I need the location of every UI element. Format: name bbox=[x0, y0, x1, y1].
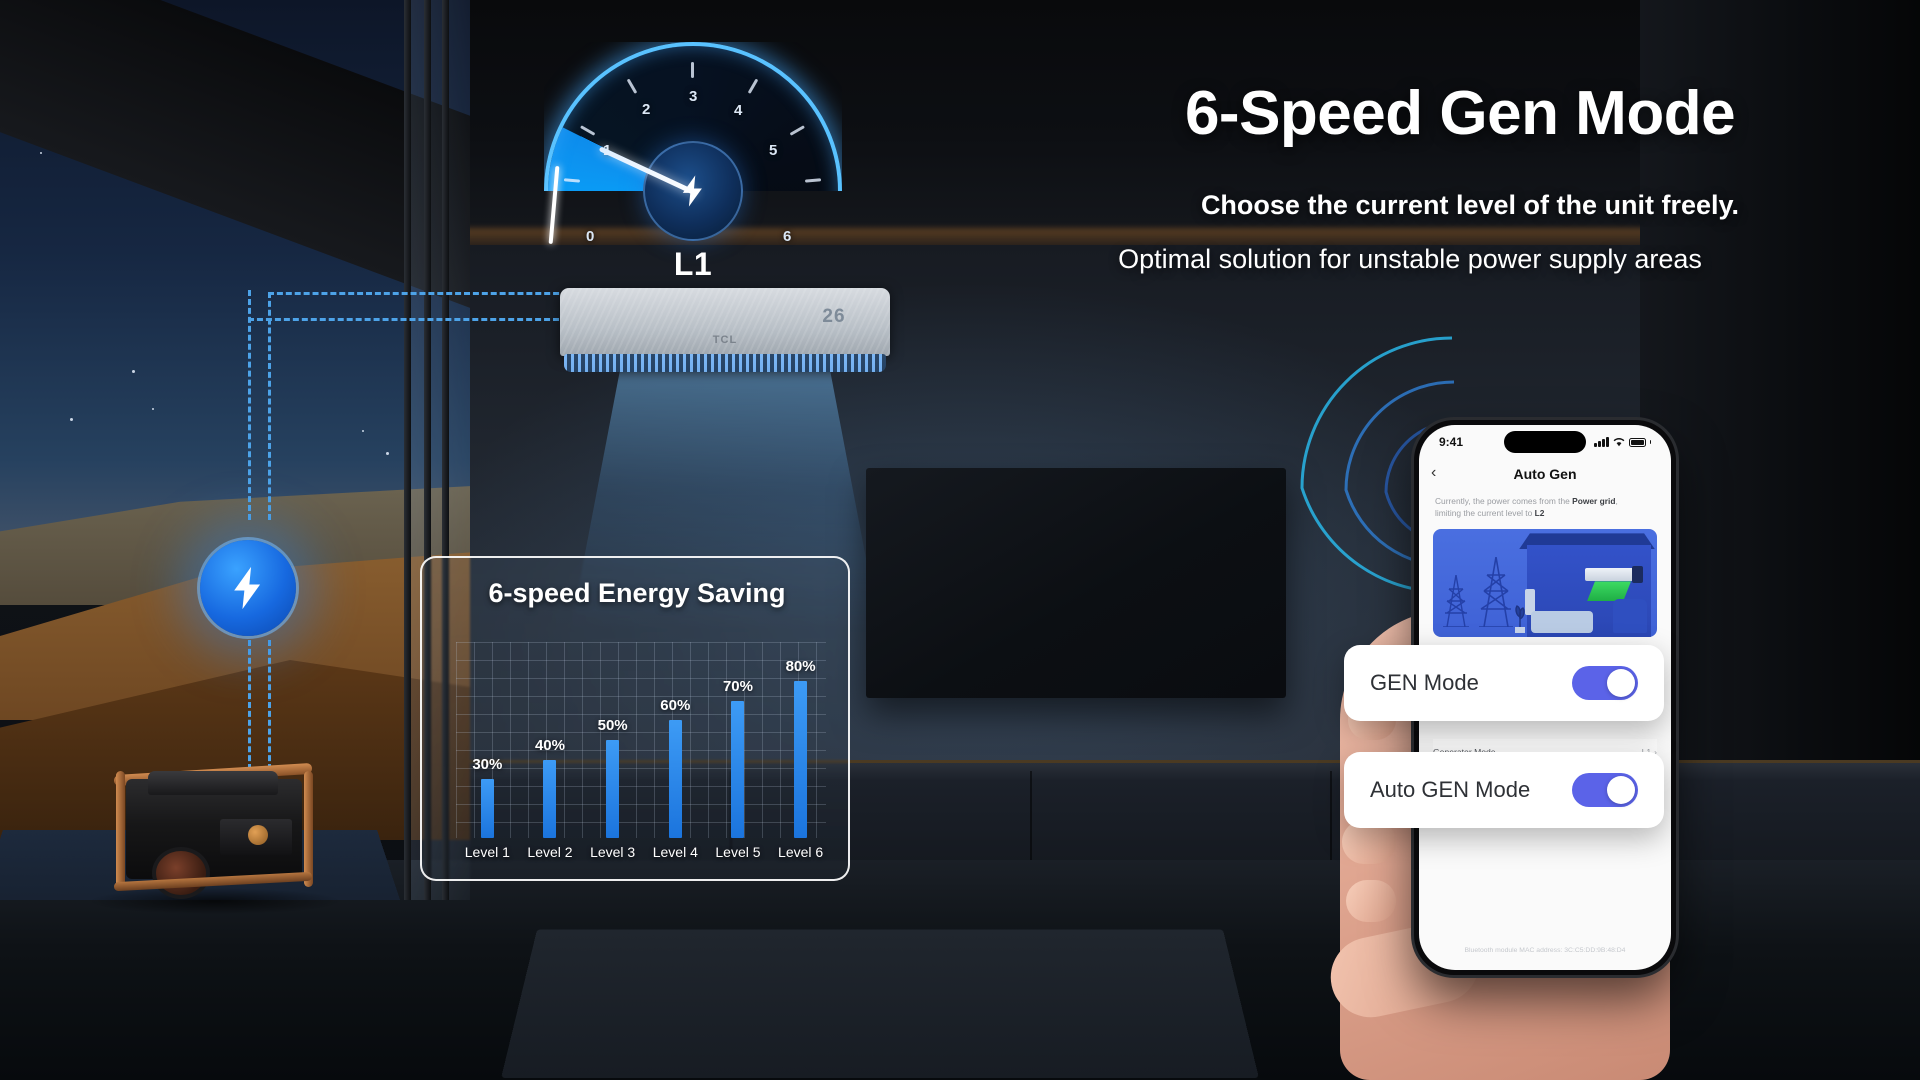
speed-gauge: 0 1 2 3 4 5 6 bbox=[548, 46, 838, 256]
chart-bar-value: 70% bbox=[712, 678, 764, 695]
lightning-bolt-badge bbox=[200, 540, 296, 636]
chart-category-label: Level 1 bbox=[461, 844, 513, 866]
chart-bar-value: 80% bbox=[775, 658, 827, 675]
lightning-bolt-icon bbox=[225, 565, 271, 611]
ac-temperature-display: 26 bbox=[806, 306, 862, 332]
connection-line-horizontal bbox=[248, 318, 568, 321]
chart-bar bbox=[669, 720, 682, 838]
gauge-tick-3: 3 bbox=[689, 88, 697, 105]
chart-bars: 30%40%50%60%70%80% bbox=[456, 642, 832, 838]
chart-category-label: Level 3 bbox=[587, 844, 639, 866]
chart-bar-column: 60% bbox=[649, 642, 701, 838]
floor-rug bbox=[501, 929, 1259, 1078]
chart-bar-value: 50% bbox=[587, 717, 639, 734]
phone-nav-bar: ‹ Auto Gen bbox=[1419, 459, 1671, 489]
info-line-1-bold: Power grid bbox=[1572, 496, 1615, 506]
chart-title: 6-speed Energy Saving bbox=[422, 578, 852, 609]
chart-bar-column: 80% bbox=[775, 642, 827, 838]
wifi-icon bbox=[1613, 437, 1625, 447]
bluetooth-mac-address: Bluetooth module MAC address: 3C:C5:DD:9… bbox=[1419, 947, 1671, 954]
mini-ac-controller bbox=[1632, 566, 1643, 583]
chevron-left-icon[interactable]: ‹ bbox=[1431, 465, 1436, 481]
power-grid-to-home-illustration bbox=[1433, 529, 1657, 637]
status-time: 9:41 bbox=[1439, 435, 1463, 449]
info-line-2-bold: L2 bbox=[1535, 508, 1545, 518]
cellular-signal-icon bbox=[1594, 437, 1609, 447]
gauge-tick-0: 0 bbox=[586, 228, 594, 245]
battery-full-icon bbox=[1629, 438, 1646, 447]
mini-chair bbox=[1613, 599, 1647, 633]
dynamic-island bbox=[1504, 431, 1586, 453]
chart-bar-column: 50% bbox=[587, 642, 639, 838]
chart-category-label: Level 2 bbox=[524, 844, 576, 866]
finger bbox=[1346, 880, 1396, 922]
connection-line-vertical-upper-2 bbox=[268, 292, 271, 520]
gauge-level-label: L1 bbox=[548, 246, 838, 283]
chart-category-label: Level 4 bbox=[649, 844, 701, 866]
auto-gen-mode-toggle-card[interactable]: Auto GEN Mode bbox=[1344, 752, 1664, 828]
promotional-scene: 0 1 2 3 4 5 6 L1 26 TCL 6-speed Energy S… bbox=[0, 0, 1920, 1080]
gauge-tick-5: 5 bbox=[769, 142, 777, 159]
mini-sofa bbox=[1531, 611, 1593, 633]
status-icons bbox=[1594, 437, 1651, 447]
gauge-tick-4: 4 bbox=[734, 102, 742, 119]
info-line-1-prefix: Currently, the power comes from the bbox=[1435, 496, 1572, 506]
headline-subtitle-1: Choose the current level of the unit fre… bbox=[1040, 190, 1900, 221]
connection-line-vertical-lower bbox=[248, 640, 251, 770]
page-headline: 6-Speed Gen Mode bbox=[1040, 78, 1880, 149]
chart-category-labels: Level 1Level 2Level 3Level 4Level 5Level… bbox=[456, 844, 832, 866]
chart-bar bbox=[543, 760, 556, 838]
pylon-icon bbox=[1439, 575, 1473, 627]
gen-mode-switch[interactable] bbox=[1572, 666, 1638, 700]
phone-status-bar: 9:41 bbox=[1419, 425, 1671, 459]
connection-line-vertical-upper bbox=[248, 290, 251, 520]
chart-bar-column: 30% bbox=[461, 642, 513, 838]
connection-line-horizontal-2 bbox=[268, 292, 568, 295]
wall-mounted-tv bbox=[866, 468, 1286, 698]
headline-subtitle-2: Optimal solution for unstable power supp… bbox=[920, 244, 1900, 275]
chart-bar-column: 70% bbox=[712, 642, 764, 838]
chart-bar bbox=[606, 740, 619, 838]
portable-generator bbox=[108, 755, 320, 900]
gen-mode-toggle-card[interactable]: GEN Mode bbox=[1344, 645, 1664, 721]
page-title: Auto Gen bbox=[1514, 466, 1577, 482]
chart-category-label: Level 6 bbox=[775, 844, 827, 866]
switch-knob bbox=[1607, 669, 1635, 697]
plant-icon bbox=[1511, 603, 1529, 633]
info-line-2-prefix: limiting the current level to bbox=[1435, 508, 1535, 518]
battery-tip-icon bbox=[1650, 440, 1652, 444]
info-line-1-suffix: , bbox=[1615, 496, 1617, 506]
chart-bar-column: 40% bbox=[524, 642, 576, 838]
gauge-tick-2: 2 bbox=[642, 101, 650, 118]
chart-bar bbox=[731, 701, 744, 838]
energy-saving-chart: 6-speed Energy Saving 30%40%50%60%70%80%… bbox=[420, 556, 850, 881]
info-description: Currently, the power comes from the Powe… bbox=[1419, 489, 1671, 527]
toggle-label: Auto GEN Mode bbox=[1370, 777, 1530, 803]
chart-bar-value: 60% bbox=[649, 697, 701, 714]
chart-bar-value: 40% bbox=[524, 737, 576, 754]
chart-bar bbox=[481, 779, 494, 838]
ac-air-vent bbox=[564, 354, 886, 372]
chart-bar-value: 30% bbox=[461, 756, 513, 773]
ac-brand-logo: TCL bbox=[560, 334, 890, 346]
air-conditioner-unit: 26 TCL bbox=[560, 288, 890, 388]
chart-category-label: Level 5 bbox=[712, 844, 764, 866]
auto-gen-mode-switch[interactable] bbox=[1572, 773, 1638, 807]
gauge-tick-6: 6 bbox=[783, 228, 791, 245]
switch-knob bbox=[1607, 776, 1635, 804]
chart-bar bbox=[794, 681, 807, 838]
mini-ac-unit bbox=[1585, 568, 1639, 581]
toggle-label: GEN Mode bbox=[1370, 670, 1479, 696]
connection-line-vertical-lower-2 bbox=[268, 640, 271, 770]
